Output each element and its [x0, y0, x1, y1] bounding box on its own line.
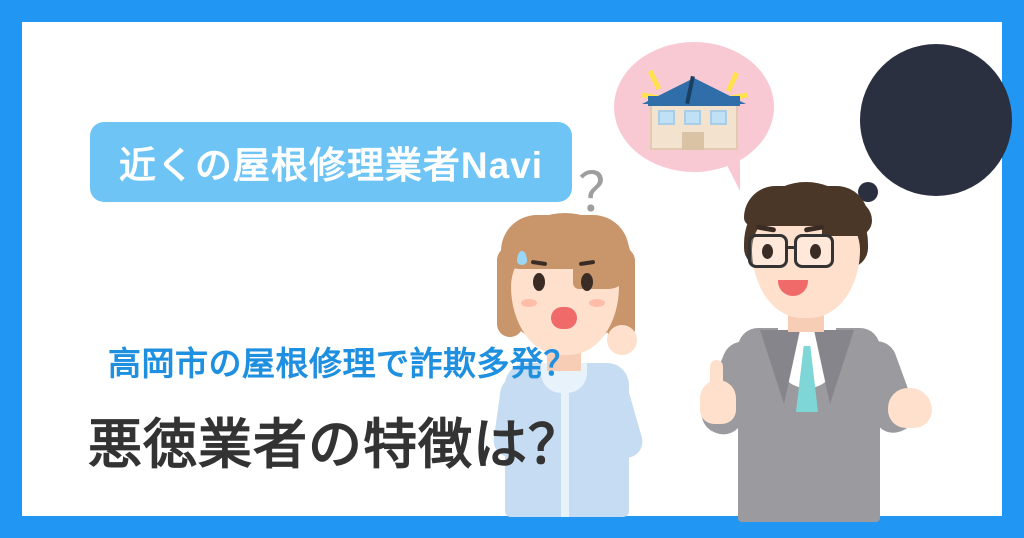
damaged-roof-house-icon — [642, 70, 746, 152]
house-window — [684, 110, 701, 125]
man-glasses-bridge — [788, 246, 796, 249]
site-name-badge: 近くの屋根修理業者Navi — [90, 122, 572, 202]
man-right-hand — [888, 388, 932, 428]
man-eye — [810, 244, 821, 259]
thumbnail-image: 近くの屋根修理業者Navi ？ — [0, 0, 1024, 538]
inner-white-frame: 近くの屋根修理業者Navi ？ — [22, 22, 1002, 516]
woman-open-mouth — [551, 307, 577, 329]
woman-hand — [607, 325, 637, 355]
site-name-label: 近くの屋根修理業者Navi — [119, 135, 543, 189]
angry-salesman-illustration — [682, 182, 952, 522]
house-window — [710, 110, 727, 125]
woman-eye — [581, 273, 593, 291]
sweat-drop-icon — [517, 251, 527, 265]
man-left-hand — [700, 380, 736, 424]
man-bangs-sweep — [822, 200, 872, 236]
house-roof-edge — [648, 96, 740, 106]
woman-cheek-blush — [521, 299, 537, 307]
woman-eye — [533, 273, 545, 291]
woman-cheek-blush — [589, 299, 605, 307]
headline-subtitle: 高岡市の屋根修理で詐欺多発？ — [108, 337, 577, 385]
house-window — [658, 110, 675, 125]
house-door — [682, 132, 704, 150]
burglar-thought-bubble — [860, 44, 1012, 196]
man-eye — [762, 244, 773, 259]
damaged-house-speech-bubble — [614, 42, 780, 194]
headline-main: 悪徳業者の特徴は？ — [88, 400, 583, 479]
